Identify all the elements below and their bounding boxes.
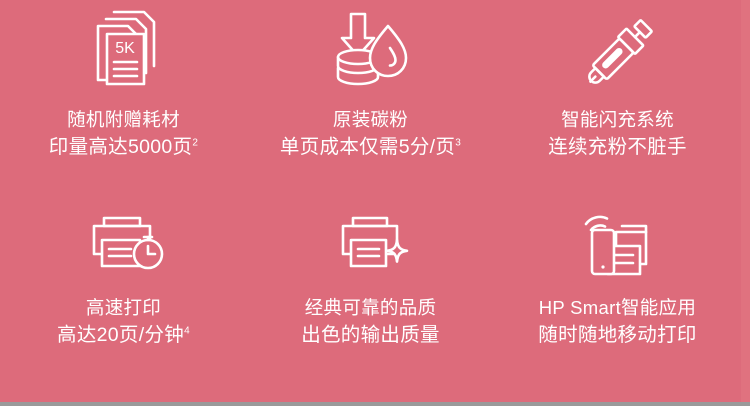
- feature-line-2: 单页成本仅需5分/页3: [280, 133, 461, 162]
- footnote-marker: 4: [184, 326, 190, 337]
- feature-line-1: 智能闪充系统: [548, 106, 687, 133]
- feature-card-refill: 智能闪充系统 连续充粉不脏手: [494, 6, 741, 202]
- feature-grid: 5K 随机附赠耗材 印量高达5000页2: [0, 0, 741, 402]
- feature-line-2: 高达20页/分钟4: [57, 321, 190, 350]
- stacked-pages-5k-icon: 5K: [78, 6, 170, 102]
- syringe-refill-icon: [572, 6, 664, 102]
- feature-caption: 原装碳粉 单页成本仅需5分/页3: [280, 106, 461, 162]
- feature-line-1: 随机附赠耗材: [49, 106, 198, 133]
- feature-line-2: 随时随地移动打印: [538, 321, 696, 350]
- feature-line-1: 经典可靠的品质: [301, 294, 440, 321]
- feature-card-toner: 原装碳粉 单页成本仅需5分/页3: [247, 6, 494, 202]
- printer-stopwatch-icon: [78, 202, 170, 290]
- toner-powder-droplet-icon: [325, 6, 417, 102]
- printer-sparkle-icon: [325, 202, 417, 290]
- feature-line-2: 出色的输出质量: [301, 321, 440, 350]
- phone-wireless-printer-icon: [572, 202, 664, 290]
- feature-card-speed: 高速打印 高达20页/分钟4: [0, 202, 247, 398]
- horizontal-scrollbar[interactable]: [0, 402, 750, 406]
- footnote-marker: 2: [192, 138, 198, 149]
- feature-caption: 高速打印 高达20页/分钟4: [57, 294, 190, 350]
- feature-line-1: HP Smart智能应用: [538, 294, 696, 321]
- feature-line-1: 原装碳粉: [280, 106, 461, 133]
- promo-banner: 5K 随机附赠耗材 印量高达5000页2: [0, 0, 750, 406]
- feature-line-1: 高速打印: [57, 294, 190, 321]
- feature-card-quality: 经典可靠的品质 出色的输出质量: [247, 202, 494, 398]
- feature-line-2: 连续充粉不脏手: [548, 133, 687, 162]
- right-edge-strip: [741, 0, 750, 402]
- feature-caption: 随机附赠耗材 印量高达5000页2: [49, 106, 198, 162]
- feature-caption: 智能闪充系统 连续充粉不脏手: [548, 106, 687, 162]
- feature-card-mobile: HP Smart智能应用 随时随地移动打印: [494, 202, 741, 398]
- stacked-pages-icon-label: 5K: [115, 40, 135, 57]
- feature-caption: HP Smart智能应用 随时随地移动打印: [538, 294, 696, 350]
- footnote-marker: 3: [455, 138, 461, 149]
- feature-caption: 经典可靠的品质 出色的输出质量: [301, 294, 440, 350]
- feature-card-supplies: 5K 随机附赠耗材 印量高达5000页2: [0, 6, 247, 202]
- feature-line-2: 印量高达5000页2: [49, 133, 198, 162]
